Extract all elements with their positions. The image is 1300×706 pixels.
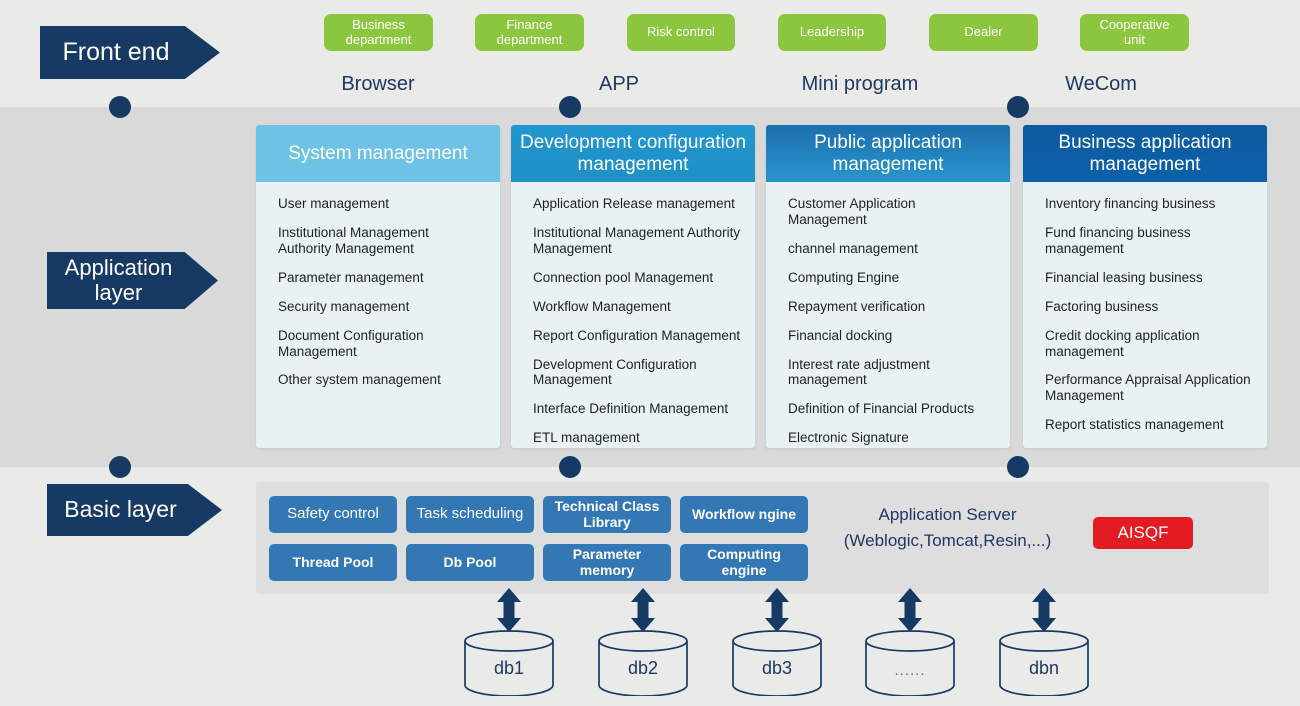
application-panel-title: Business application management	[1029, 132, 1261, 176]
layer-tag-application-line2: layer	[95, 280, 143, 305]
application-panel-item[interactable]: channel management	[766, 241, 1010, 257]
database-cylinder[interactable]: db2	[597, 630, 689, 696]
application-panel-item[interactable]: Computing Engine	[766, 270, 1010, 286]
front-end-role-label: Risk control	[647, 25, 715, 40]
basic-layer-chip-label: Workflow ngine	[692, 507, 796, 522]
layer-tag-application-line1: Application	[65, 255, 173, 280]
application-panel-title: Public application management	[772, 132, 1004, 176]
database-label: dbn	[998, 658, 1090, 679]
database-cylinder[interactable]: db3	[731, 630, 823, 696]
front-end-channel-label: APP	[519, 73, 719, 96]
basic-layer-chip[interactable]: Workflow ngine	[680, 496, 808, 533]
connector-dot-front-right	[1007, 96, 1029, 118]
application-panel-item[interactable]: Document ConfigurationManagement	[256, 328, 500, 360]
application-panel-item[interactable]: Electronic Signature	[766, 430, 1010, 446]
basic-layer-chip-label: Parametermemory	[573, 547, 642, 578]
application-panel-item[interactable]: Workflow Management	[511, 299, 755, 315]
application-panel-item[interactable]: Security management	[256, 299, 500, 315]
aisqf-badge-label: AISQF	[1117, 523, 1168, 543]
application-panel-item[interactable]: Institutional ManagementAuthority Manage…	[256, 225, 500, 257]
layer-tag-basic-label: Basic layer	[64, 497, 176, 522]
application-panel-item[interactable]: Interface Definition Management	[511, 401, 755, 417]
database-cylinder[interactable]: ......	[864, 630, 956, 696]
application-panel-item[interactable]: Report Configuration Management	[511, 328, 755, 344]
db-connector-arrow-icon	[630, 588, 656, 632]
application-panel-item[interactable]: Fund financing businessmanagement	[1023, 225, 1267, 257]
application-panel: Development configuration managementAppl…	[511, 125, 755, 448]
application-panel-title: Development configuration management	[517, 132, 749, 176]
front-end-role-pill[interactable]: Risk control	[627, 14, 735, 51]
basic-layer-chip[interactable]: Parametermemory	[543, 544, 671, 581]
layer-tag-application-label: Application layer	[65, 256, 173, 304]
application-server-line2: (Weblogic,Tomcat,Resin,...)	[820, 528, 1075, 554]
database-label: db2	[597, 658, 689, 679]
front-end-role-pill[interactable]: Leadership	[778, 14, 886, 51]
application-panel: Public application managementCustomer Ap…	[766, 125, 1010, 448]
front-end-role-pill[interactable]: Dealer	[929, 14, 1038, 51]
application-panel-item[interactable]: User management	[256, 196, 500, 212]
front-end-role-pill[interactable]: Financedepartment	[475, 14, 584, 51]
layer-tag-application: Application layer	[47, 252, 218, 309]
basic-layer-chip[interactable]: Safety control	[269, 496, 397, 533]
application-panel-item[interactable]: Customer ApplicationManagement	[766, 196, 1010, 228]
front-end-role-pill[interactable]: Businessdepartment	[324, 14, 433, 51]
basic-layer-chip-label: Db Pool	[444, 555, 497, 570]
db-connector-arrow-icon	[764, 588, 790, 632]
application-panel-item[interactable]: Inventory financing business	[1023, 196, 1267, 212]
application-panel-item[interactable]: Connection pool Management	[511, 270, 755, 286]
layer-tag-basic: Basic layer	[47, 484, 222, 536]
application-panel-item[interactable]: Institutional Management AuthorityManage…	[511, 225, 755, 257]
application-panel-item[interactable]: Factoring business	[1023, 299, 1267, 315]
application-panel-item[interactable]: Credit docking applicationmanagement	[1023, 328, 1267, 360]
front-end-role-label: Dealer	[964, 25, 1002, 40]
basic-layer-chip-label: Computingengine	[707, 547, 781, 578]
application-panel-header[interactable]: Development configuration management	[511, 125, 755, 182]
application-panel-item[interactable]: Other business management	[1023, 446, 1267, 448]
application-panel-item[interactable]: Financial leasing business	[1023, 270, 1267, 286]
application-panel-header[interactable]: Public application management	[766, 125, 1010, 182]
basic-layer-chip[interactable]: Db Pool	[406, 544, 534, 581]
application-panel-item[interactable]: Interest rate adjustmentmanagement	[766, 357, 1010, 389]
basic-layer-chip-label: Safety control	[287, 506, 379, 523]
layer-tag-front-end-label: Front end	[62, 39, 169, 67]
connector-dot-basic-mid	[559, 456, 581, 478]
aisqf-badge: AISQF	[1093, 517, 1193, 549]
basic-layer-chip-label: Thread Pool	[293, 555, 374, 570]
application-panel-title: System management	[288, 143, 468, 165]
basic-layer-chip[interactable]: Task scheduling	[406, 496, 534, 533]
application-panel-items: Customer ApplicationManagementchannel ma…	[766, 182, 1010, 448]
application-panel-header[interactable]: Business application management	[1023, 125, 1267, 182]
application-panel-header[interactable]: System management	[256, 125, 500, 182]
application-panel-items: Inventory financing businessFund financi…	[1023, 182, 1267, 448]
front-end-channel-label: Browser	[278, 73, 478, 96]
connector-dot-basic-right	[1007, 456, 1029, 478]
basic-layer-chip[interactable]: Computingengine	[680, 544, 808, 581]
application-panel: Business application managementInventory…	[1023, 125, 1267, 448]
connector-dot-front-left	[109, 96, 131, 118]
application-panel-item[interactable]: Parameter management	[256, 270, 500, 286]
front-end-role-label: Cooperativeunit	[1099, 18, 1169, 47]
application-server-label: Application Server (Weblogic,Tomcat,Resi…	[820, 502, 1075, 553]
application-panel: System managementUser managementInstitut…	[256, 125, 500, 448]
front-end-role-label: Financedepartment	[497, 18, 563, 47]
database-label: ......	[864, 662, 956, 679]
db-connector-arrow-icon	[496, 588, 522, 632]
application-panel-item[interactable]: Definition of Financial Products	[766, 401, 1010, 417]
connector-dot-basic-left	[109, 456, 131, 478]
application-panel-items: User managementInstitutional ManagementA…	[256, 182, 500, 411]
front-end-channel-label: Mini program	[760, 73, 960, 96]
application-panel-item[interactable]: Application Release management	[511, 196, 755, 212]
application-panel-items: Application Release managementInstitutio…	[511, 182, 755, 448]
basic-layer-chip-label: Technical ClassLibrary	[555, 499, 660, 530]
application-panel-item[interactable]: Other system management	[256, 372, 500, 388]
basic-layer-chip[interactable]: Technical ClassLibrary	[543, 496, 671, 533]
front-end-role-pill[interactable]: Cooperativeunit	[1080, 14, 1189, 51]
application-panel-item[interactable]: Repayment verification	[766, 299, 1010, 315]
application-panel-item[interactable]: Development ConfigurationManagement	[511, 357, 755, 389]
application-server-line1: Application Server	[820, 502, 1075, 528]
db-connector-arrow-icon	[897, 588, 923, 632]
database-cylinder[interactable]: db1	[463, 630, 555, 696]
connector-dot-front-mid	[559, 96, 581, 118]
application-panel-item[interactable]: Report statistics management	[1023, 417, 1267, 433]
basic-layer-chip-label: Task scheduling	[417, 506, 524, 523]
front-end-role-label: Businessdepartment	[346, 18, 412, 47]
database-cylinder[interactable]: dbn	[998, 630, 1090, 696]
architecture-diagram: Front end Application layer Basic layer …	[0, 0, 1300, 706]
front-end-channel-label: WeCom	[1001, 73, 1201, 96]
basic-layer-chip[interactable]: Thread Pool	[269, 544, 397, 581]
application-panel-item[interactable]: ETL management	[511, 430, 755, 446]
front-end-role-label: Leadership	[800, 25, 864, 40]
application-panel-item[interactable]: Financial docking	[766, 328, 1010, 344]
db-connector-arrow-icon	[1031, 588, 1057, 632]
database-label: db3	[731, 658, 823, 679]
database-label: db1	[463, 658, 555, 679]
layer-tag-front-end: Front end	[40, 26, 220, 79]
application-panel-item[interactable]: Performance Appraisal ApplicationManagem…	[1023, 372, 1267, 404]
